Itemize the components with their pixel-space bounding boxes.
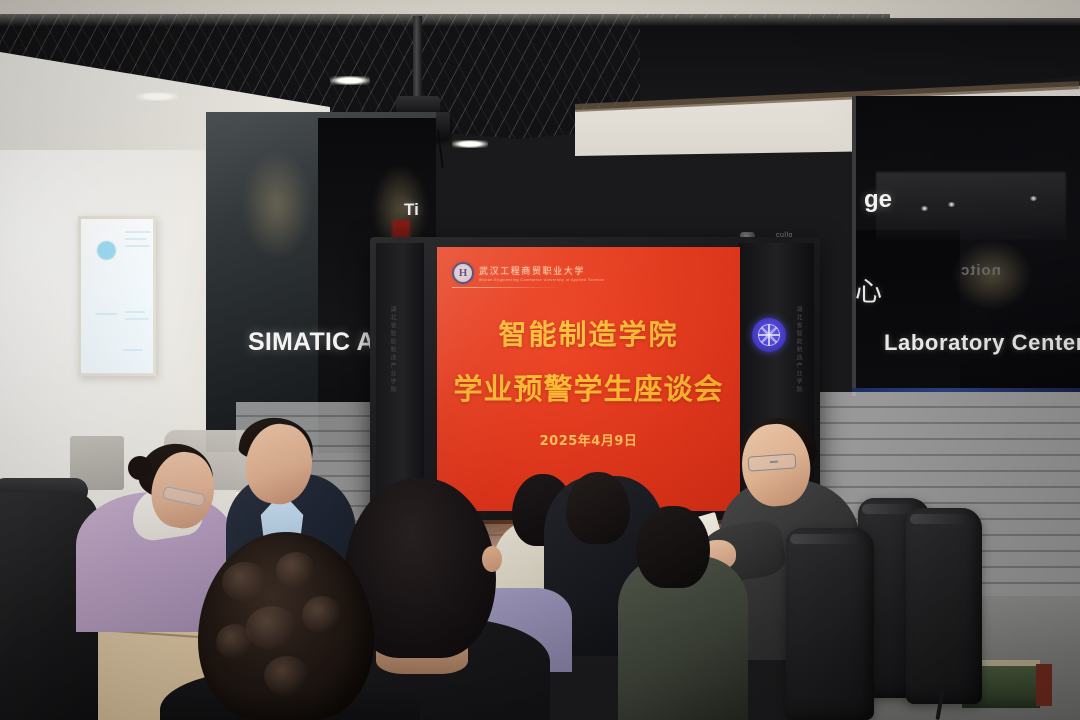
window-reflected-light-icon <box>921 206 928 211</box>
logo-underline-rule <box>452 287 562 288</box>
screenshot-scene: cullo Ti SIMATIC Adv noitc ge 心 Laborato… <box>0 0 1080 720</box>
cardboard-box-side <box>1036 664 1052 706</box>
black-office-chair[interactable] <box>906 508 982 704</box>
university-crest-icon <box>452 262 474 284</box>
university-name-block: 武汉工程商贸职业大学 Wuhan Engineering Commerce Un… <box>479 264 604 282</box>
laboratory-center-sign: Laboratory Center <box>884 330 1080 356</box>
university-name-cn: 武汉工程商贸职业大学 <box>479 264 604 277</box>
slide-title: 智能制造学院 <box>437 313 740 353</box>
partition-sign-partial: Ti <box>404 200 419 220</box>
university-logo-lockup: 武汉工程商贸职业大学 Wuhan Engineering Commerce Un… <box>452 262 604 284</box>
projector-mount-pole <box>413 16 422 106</box>
right-dark-panel <box>852 230 960 392</box>
chair-highlight <box>790 534 860 544</box>
tv-brand-roundel-icon <box>752 318 786 352</box>
ceiling-downlight-icon <box>452 140 488 148</box>
window-reflected-light-icon <box>1030 196 1037 201</box>
window-frame-vertical <box>852 96 856 396</box>
person-ear <box>482 546 502 572</box>
university-name-en: Wuhan Engineering Commerce University of… <box>479 278 604 282</box>
black-office-chair[interactable] <box>786 528 874 720</box>
poster-blue-circle-icon <box>97 241 116 260</box>
framed-wall-poster <box>78 216 156 376</box>
slide-date: 2025年4月9日 <box>437 430 740 449</box>
ceiling-downlight-icon <box>330 76 370 85</box>
window-reflected-light-icon <box>948 202 955 207</box>
display-bezel-text-left: 湖北省智能制造产业学院 <box>388 306 397 466</box>
chair-highlight <box>862 504 916 514</box>
poster-content <box>81 219 153 373</box>
right-sign-partial-upper: ge <box>864 186 892 214</box>
slide-subtitle: 学业预警学生座谈会 <box>437 366 740 408</box>
ceiling-downlight-icon <box>136 92 178 101</box>
display-bezel-left <box>376 243 424 518</box>
chair-highlight <box>910 514 968 524</box>
window-reflection-strip <box>876 172 1066 240</box>
window-mirrored-sign: noitc <box>960 262 1001 279</box>
presentation-slide: 武汉工程商贸职业大学 Wuhan Engineering Commerce Un… <box>437 247 740 511</box>
right-sign-cn-character: 心 <box>855 270 882 309</box>
person-head-back <box>566 472 630 544</box>
person-hair-bun <box>128 456 152 480</box>
glass-reflection-glow <box>242 150 312 260</box>
person-head-back <box>636 506 710 588</box>
